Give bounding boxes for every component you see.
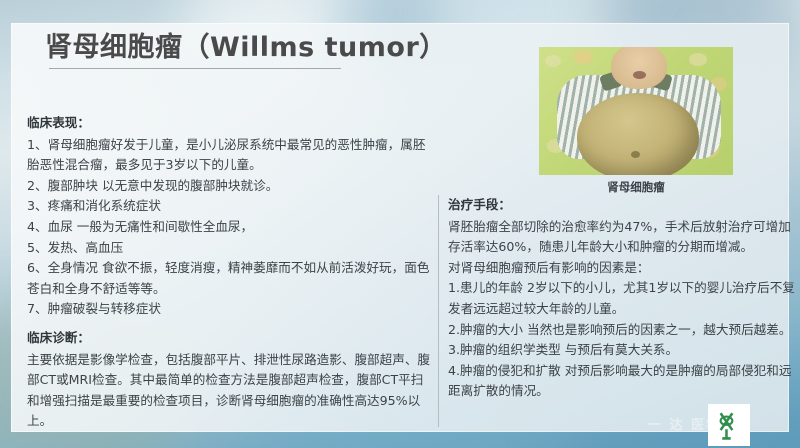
blanket-pattern xyxy=(573,50,593,64)
clinical-diagnosis-heading: 临床诊断： xyxy=(27,328,431,349)
manifestation-item: 5、发热、高血压 xyxy=(27,238,431,259)
manifestation-item: 4、血尿 一般为无痛性和间歇性全血尿， xyxy=(27,217,431,238)
column-divider xyxy=(438,195,439,427)
left-column: 临床表现： 1、肾母细胞瘤好发于儿童，是小儿泌尿系统中最常见的恶性肿瘤，属胚胎恶… xyxy=(27,113,431,432)
manifestation-item: 7、肿瘤破裂与转移症状 xyxy=(27,299,431,320)
prognostic-factor-item: 4.肿瘤的侵犯和扩散 对预后影响最大的是肿瘤的局部侵犯和远距离扩散的情况。 xyxy=(448,361,796,402)
prognostic-factor-item: 2.肿瘤的大小 当然也是影响预后的因素之一，越大预后越差。 xyxy=(448,320,796,341)
navel xyxy=(631,151,640,158)
blanket-pattern xyxy=(689,53,707,66)
manifestation-item: 1、肾母细胞瘤好发于儿童，是小儿泌尿系统中最常见的恶性肿瘤，属胚胎恶性混合瘤，最… xyxy=(27,135,431,176)
clinical-photo xyxy=(539,47,733,175)
right-column: 治疗手段： 肾胚胎瘤全部切除的治愈率约为47%，手术后放射治疗可增加存活率达60… xyxy=(448,195,796,402)
title-block: 肾母细胞瘤（Willms tumor） xyxy=(45,31,475,69)
title-underline xyxy=(49,68,341,69)
prognostic-factors-intro: 对肾母细胞瘤预后有影响的因素是： xyxy=(448,258,796,279)
manifestation-item: 6、全身情况 食欲不振，轻度消瘦，精神萎靡而不如从前活泼好玩，面色苍白和全身不舒… xyxy=(27,258,431,299)
treatment-body: 肾胚胎瘤全部切除的治愈率约为47%，手术后放射治疗可增加存活率达60%，随患儿年… xyxy=(448,217,796,258)
manifestation-item: 2、腹部肿块 以无意中发现的腹部肿块就诊。 xyxy=(27,176,431,197)
content-panel: 肾母细胞瘤（Willms tumor） 肾母细胞瘤 xyxy=(11,23,789,432)
organization-logo-icon xyxy=(708,404,750,446)
prognostic-factor-item: 1.患儿的年龄 2岁以下的小儿，尤其1岁以下的婴儿治疗后不复发者远远超过较大年龄… xyxy=(448,278,796,319)
child-head xyxy=(611,47,667,89)
treatment-heading: 治疗手段： xyxy=(448,195,796,216)
figure-caption: 肾母细胞瘤 xyxy=(539,179,733,195)
child-mouth xyxy=(633,71,646,79)
clinical-manifestation-heading: 临床表现： xyxy=(27,113,431,134)
clinical-diagnosis-body: 主要依据是影像学检查，包括腹部平片、排泄性尿路造影、腹部超声、腹部CT或MRI检… xyxy=(27,350,431,432)
prognostic-factor-item: 3.肿瘤的组织学类型 与预后有莫大关系。 xyxy=(448,340,796,361)
figure: 肾母细胞瘤 xyxy=(539,47,733,175)
blanket-pattern xyxy=(545,55,561,67)
section-spacer xyxy=(27,320,431,328)
page-title: 肾母细胞瘤（Willms tumor） xyxy=(45,31,475,65)
slide: 肾母细胞瘤（Willms tumor） 肾母细胞瘤 xyxy=(0,0,800,448)
manifestation-item: 3、疼痛和消化系统症状 xyxy=(27,196,431,217)
distended-abdomen xyxy=(577,93,699,175)
